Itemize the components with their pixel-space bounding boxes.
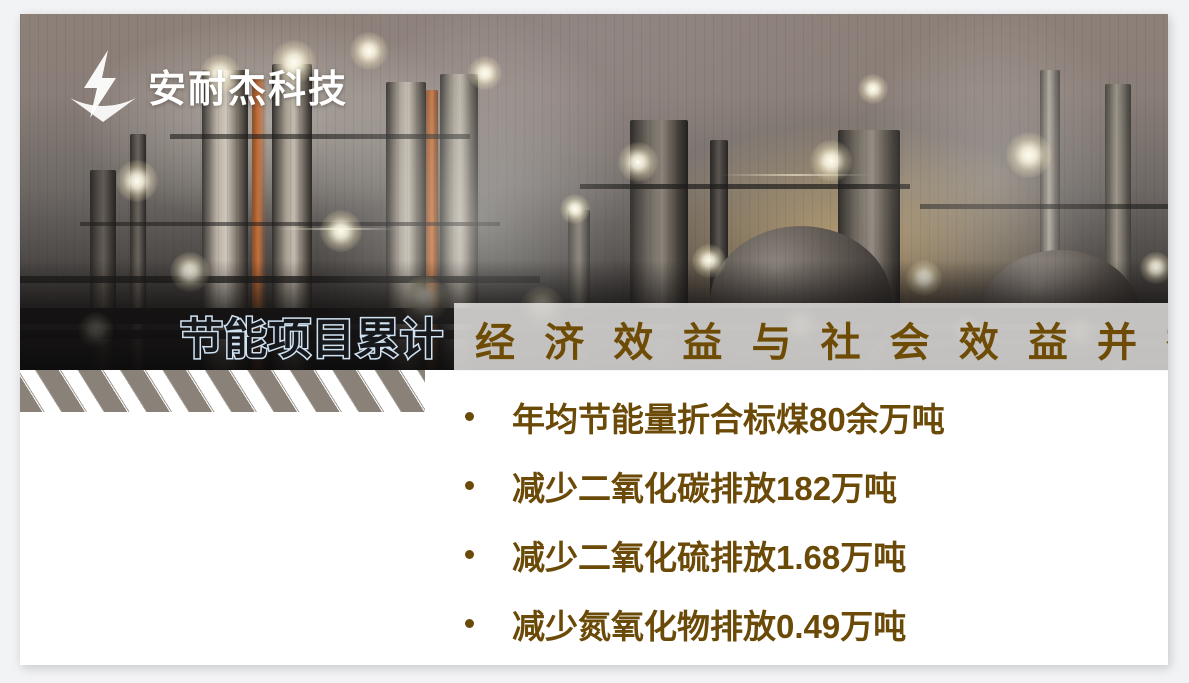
photo-light-streak [720,174,870,176]
photo-light [618,142,658,182]
list-item: 减少二氧化硫排放1.68万吨 [445,520,1168,589]
bullet-dot-icon [465,550,474,559]
photo-light [560,194,590,224]
list-item: 年均节能量折合标煤80余万吨 [445,382,1168,451]
list-item-label: 减少二氧化硫排放1.68万吨 [512,531,906,579]
presentation-slide: 安耐杰科技 节能项目累计 经 济 效 益 与 社 会 效 益 并 举 年均节能量… [20,14,1168,665]
page-title: 经 济 效 益 与 社 会 效 益 并 举 [475,312,1168,366]
list-item-label: 减少氮氧化物排放0.49万吨 [512,600,906,648]
photo-light [1006,132,1052,178]
list-item: 减少氮氧化物排放0.49万吨 [445,589,1168,658]
company-name: 安耐杰科技 [148,58,348,113]
bullet-dot-icon [465,619,474,628]
photo-light [320,210,362,252]
company-logo: 安耐杰科技 [70,48,348,122]
list-item: 减少二氧化碳排放182万吨 [445,451,1168,520]
bullet-dot-icon [465,481,474,490]
kicker-title: 节能项目累计 [180,319,444,362]
list-item-label: 减少二氧化碳排放182万吨 [512,462,897,510]
photo-light [468,56,502,90]
photo-light [116,160,158,202]
photo-light [350,32,388,70]
photo-light-streak [278,228,398,230]
diagonal-stripe-band [20,370,425,412]
photo-light [858,74,888,104]
list-item-label: 年均节能量折合标煤80余万吨 [512,393,945,441]
bullet-dot-icon [465,412,474,421]
bullet-list: 年均节能量折合标煤80余万吨 减少二氧化碳排放182万吨 减少二氧化硫排放1.6… [445,382,1168,658]
lightning-bolt-chevron-icon [70,48,136,122]
